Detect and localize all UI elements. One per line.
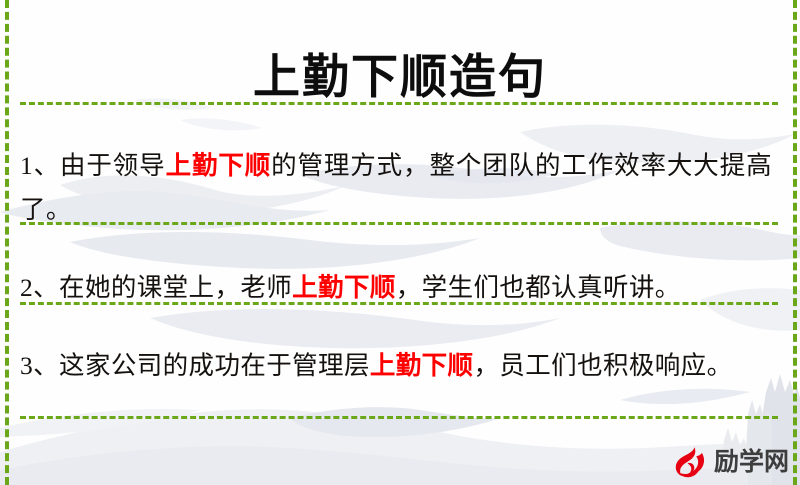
- sentence-2-text-before: 2、在她的课堂上，老师: [20, 273, 292, 302]
- page-root: 上勤下顺造句 1、由于领导上勤下顺的管理方式，整个团队的工作效率大大提高了。 2…: [0, 0, 800, 485]
- red-flame-swirl-icon: [672, 444, 708, 480]
- sentence-3-idiom-highlight: 上勤下顺: [370, 351, 474, 380]
- list-item: 3、这家公司的成功在于管理层上勤下顺，员工们也积极响应。: [20, 344, 772, 388]
- sentence-2-text-after: ，学生们也都认真听讲。: [396, 273, 681, 302]
- sentence-2-idiom-highlight: 上勤下顺: [292, 273, 396, 302]
- sentence-3-text-after: ，员工们也积极响应。: [473, 351, 732, 380]
- sentence-1-idiom-highlight: 上勤下顺: [166, 151, 272, 180]
- divider-after-sentence-2: [20, 302, 778, 305]
- sentence-3-text-before: 3、这家公司的成功在于管理层: [20, 351, 370, 380]
- divider-after-sentence-1: [20, 222, 778, 225]
- frame-border-right: [793, 0, 797, 485]
- divider-after-sentence-3: [20, 416, 778, 419]
- sentence-1-text-before: 1、由于领导: [20, 151, 166, 180]
- frame-border-left: [5, 0, 9, 485]
- list-item: 1、由于领导上勤下顺的管理方式，整个团队的工作效率大大提高了。: [20, 144, 772, 232]
- site-logo[interactable]: 励学网: [672, 443, 789, 481]
- site-logo-text: 励学网: [714, 447, 789, 477]
- divider-below-title: [20, 102, 778, 105]
